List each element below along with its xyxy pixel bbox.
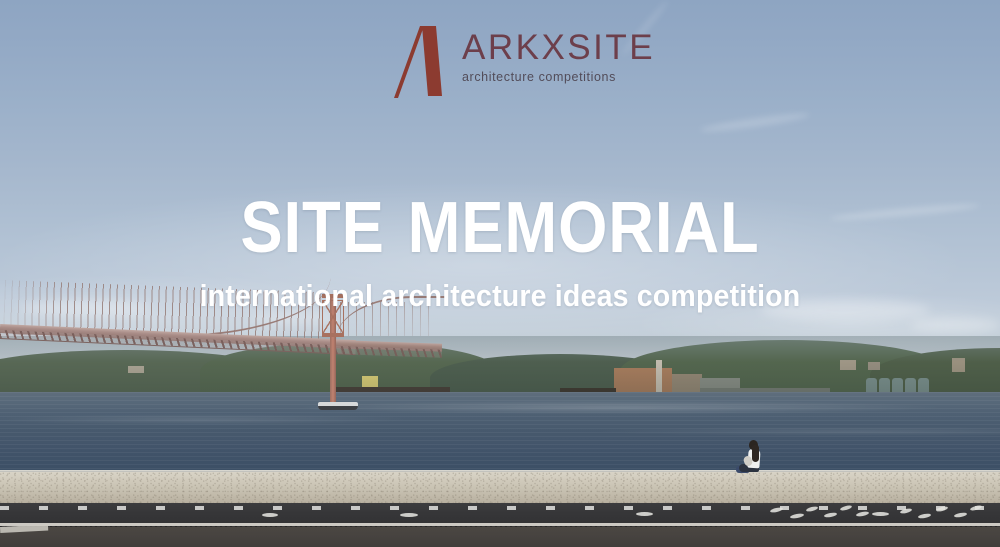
- cloud: [910, 318, 1000, 332]
- arkxsite-tagline: architecture competitions: [462, 71, 655, 84]
- arkxsite-a-mark: [392, 24, 458, 98]
- seated-person: [738, 440, 768, 474]
- bridge-pylon-crossbeam: [322, 334, 344, 337]
- title-word-site: SITE: [240, 188, 384, 268]
- road-marking: [872, 512, 889, 516]
- headline-block: SITEMEMORIAL international architecture …: [0, 192, 1000, 311]
- road-marking: [400, 513, 418, 517]
- roadway-lower: [0, 527, 1000, 547]
- road-marking: [262, 513, 278, 517]
- title-word-memorial: MEMORIAL: [408, 188, 760, 268]
- competition-poster: ARKXSITE architecture competitions SITEM…: [0, 0, 1000, 547]
- arkxsite-logo[interactable]: ARKXSITE architecture competitions: [392, 24, 622, 98]
- arkxsite-wordmark: ARKXSITE: [462, 30, 655, 65]
- road-marking: [636, 512, 653, 516]
- small-boat-hull: [318, 406, 358, 410]
- page-title: SITEMEMORIAL: [60, 192, 940, 264]
- page-subtitle: international architecture ideas competi…: [40, 280, 960, 311]
- promenade-texture: [0, 472, 1000, 506]
- person-hair: [752, 445, 759, 462]
- arkxsite-logo-text: ARKXSITE architecture competitions: [462, 24, 655, 84]
